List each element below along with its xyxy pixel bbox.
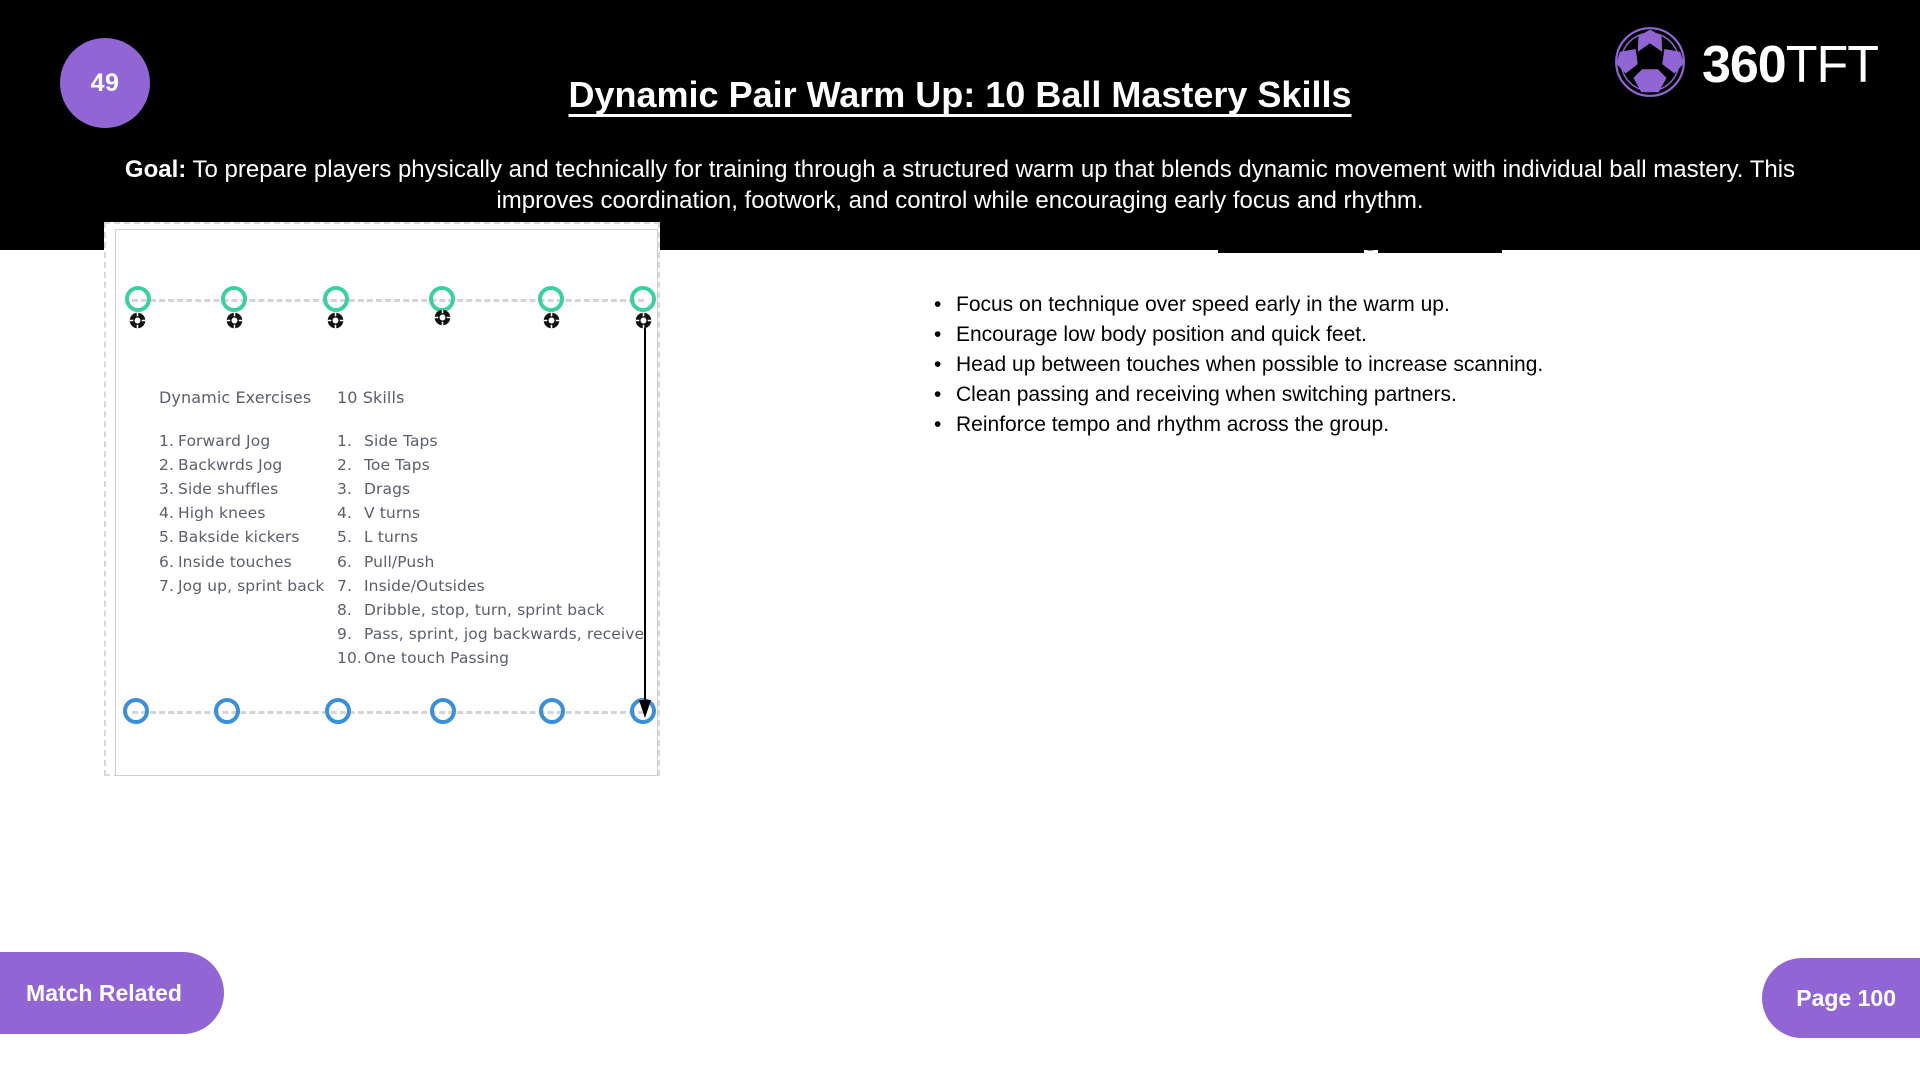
coaching-point-text: Focus on technique over speed early in t… bbox=[956, 293, 1450, 316]
soccer-ball-icon bbox=[434, 309, 451, 326]
skills-heading: 10 Skills bbox=[337, 388, 644, 409]
bullet-icon: • bbox=[934, 322, 941, 348]
list-item: 4.V turns bbox=[337, 503, 644, 523]
list-item: 3.Drags bbox=[337, 479, 644, 499]
list-item: 8.Dribble, stop, turn, sprint back bbox=[337, 600, 644, 620]
page-number-badge[interactable]: Page 100 bbox=[1762, 958, 1920, 1038]
bottom-row-connector bbox=[132, 711, 644, 714]
page-number-label: Page 100 bbox=[1796, 985, 1896, 1012]
soccer-ball-icon bbox=[327, 312, 344, 329]
list-item: 6.Inside touches bbox=[159, 552, 325, 572]
goal-statement: Goal: To prepare players physically and … bbox=[90, 155, 1830, 216]
list-item: • Reinforce tempo and rhythm across the … bbox=[930, 412, 1860, 438]
list-item: 5.L turns bbox=[337, 527, 644, 547]
brand-tft: TFT bbox=[1786, 36, 1878, 94]
list-item: • Clean passing and receiving when switc… bbox=[930, 382, 1860, 408]
list-item: 2.Toe Taps bbox=[337, 455, 644, 475]
dynamic-exercises-list: Dynamic Exercises 1.Forward Jog 2.Backwr… bbox=[159, 388, 325, 600]
list-item: 10.One touch Passing bbox=[337, 648, 644, 668]
list-item: 1.Forward Jog bbox=[159, 431, 325, 451]
coaching-point-text: Encourage low body position and quick fe… bbox=[956, 323, 1367, 346]
ball-mastery-skills-list: 10 Skills 1.Side Taps 2.Toe Taps 3.Drags… bbox=[337, 388, 644, 672]
slide-root: 49 Dynamic Pair Warm Up: 10 Ball Mastery… bbox=[0, 0, 1920, 1080]
player-bottom-4 bbox=[430, 698, 456, 724]
bullet-icon: • bbox=[934, 352, 941, 378]
soccer-ball-icon bbox=[543, 312, 560, 329]
top-row-connector bbox=[132, 299, 644, 302]
brand-wordmark: 360TFT bbox=[1702, 39, 1878, 91]
list-item: 3.Side shuffles bbox=[159, 479, 325, 499]
bullet-icon: • bbox=[934, 382, 941, 408]
list-item: 1.Side Taps bbox=[337, 431, 644, 451]
dynamic-exercises-heading: Dynamic Exercises bbox=[159, 388, 325, 409]
list-item: • Focus on technique over speed early in… bbox=[930, 292, 1860, 318]
player-bottom-5 bbox=[539, 698, 565, 724]
goal-text: To prepare players physically and techni… bbox=[186, 156, 1795, 214]
coaching-point-text: Clean passing and receiving when switchi… bbox=[956, 383, 1457, 406]
bullet-icon: • bbox=[934, 412, 941, 438]
brand-logo: 360TFT bbox=[1614, 26, 1878, 103]
category-badge-label: Match Related bbox=[26, 980, 182, 1007]
list-item: 6.Pull/Push bbox=[337, 552, 644, 572]
player-top-6 bbox=[630, 286, 656, 312]
soccer-ball-icon bbox=[1614, 26, 1686, 103]
soccer-ball-icon bbox=[226, 312, 243, 329]
coaching-point-text: Head up between touches when possible to… bbox=[956, 353, 1543, 376]
player-top-2 bbox=[221, 286, 247, 312]
list-item: 7.Jog up, sprint back bbox=[159, 576, 325, 596]
coaching-points-panel: Coaching Points • Focus on technique ove… bbox=[860, 210, 1860, 443]
bullet-icon: • bbox=[934, 292, 941, 318]
list-item: 5.Bakside kickers bbox=[159, 527, 325, 547]
list-item: • Head up between touches when possible … bbox=[930, 352, 1860, 378]
training-pitch-diagram: Dynamic Exercises 1.Forward Jog 2.Backwr… bbox=[104, 222, 660, 776]
goal-label: Goal: bbox=[125, 156, 186, 183]
player-top-3 bbox=[323, 286, 349, 312]
player-top-1 bbox=[125, 286, 151, 312]
coaching-points-list: • Focus on technique over speed early in… bbox=[930, 292, 1860, 438]
list-item: • Encourage low body position and quick … bbox=[930, 322, 1860, 348]
player-top-5 bbox=[538, 286, 564, 312]
pitch-area: Dynamic Exercises 1.Forward Jog 2.Backwr… bbox=[115, 229, 658, 776]
player-bottom-3 bbox=[325, 698, 351, 724]
coaching-point-text: Reinforce tempo and rhythm across the gr… bbox=[956, 413, 1389, 436]
list-item: 9.Pass, sprint, jog backwards, receive bbox=[337, 624, 644, 644]
soccer-ball-icon bbox=[635, 312, 652, 329]
list-item: 4.High knees bbox=[159, 503, 325, 523]
category-badge-match-related[interactable]: Match Related bbox=[0, 952, 224, 1034]
player-bottom-1 bbox=[123, 698, 149, 724]
coaching-points-title: Coaching Points bbox=[860, 210, 1860, 252]
list-item: 7.Inside/Outsides bbox=[337, 576, 644, 596]
brand-360: 360 bbox=[1702, 36, 1786, 94]
list-item: 2.Backwrds Jog bbox=[159, 455, 325, 475]
soccer-ball-icon bbox=[129, 312, 146, 329]
player-bottom-2 bbox=[214, 698, 240, 724]
